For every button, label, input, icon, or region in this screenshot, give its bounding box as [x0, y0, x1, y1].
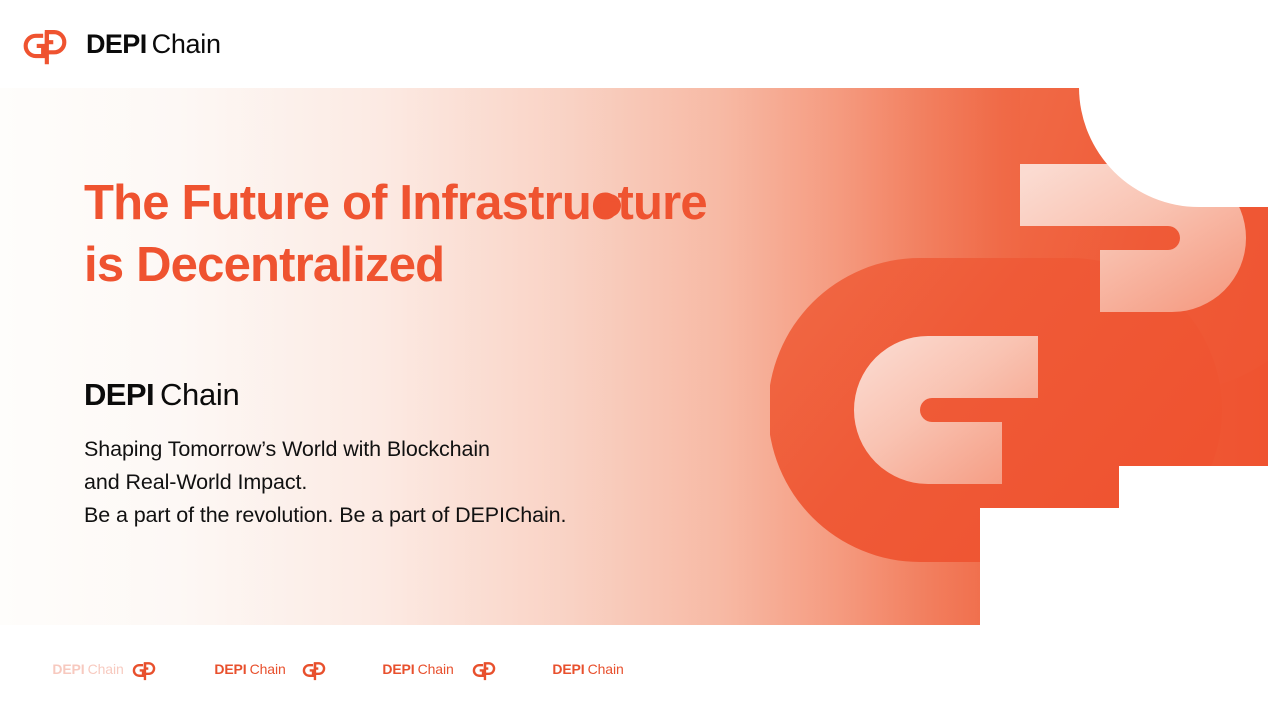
depi-chain-logo-icon[interactable] — [22, 22, 68, 66]
header-wordmark-light: Chain — [152, 29, 221, 59]
page-title: The Future of Infrastructure is Decentra… — [84, 172, 864, 296]
depi-chain-logo-icon — [302, 658, 326, 681]
footer-wordmark-light: Chain — [588, 661, 624, 677]
hero-corner-mask-top-right — [1079, 88, 1268, 207]
footer-wordmark-light: Chain — [88, 661, 124, 677]
footer-wordmark-bold: DEPI — [552, 661, 584, 677]
footer-wordmark-text: DEPIChain — [52, 662, 123, 676]
footer-wordmark-bold: DEPI — [52, 661, 84, 677]
footer-wordmark-text: DEPIChain — [382, 662, 453, 676]
page-header: DEPIChain — [0, 0, 1268, 88]
header-wordmark-bold: DEPI — [86, 29, 147, 59]
hero-corner-mask-bottom-step — [980, 508, 1120, 625]
footer-logo-ticker: DEPIChain DEPIChain DEPIChain DEPIChain — [0, 625, 1268, 713]
footer-logo-icon — [292, 625, 336, 713]
hero-brand-lockup: DEPIChain — [84, 378, 864, 412]
footer-logo-icon — [462, 625, 506, 713]
hero-brand-light: Chain — [160, 377, 240, 412]
header-wordmark: DEPIChain — [86, 31, 221, 58]
hero-brand-bold: DEPI — [84, 377, 154, 412]
footer-logo-icon — [122, 625, 166, 713]
hero-body-text: Shaping Tomorrow’s World with Blockchain… — [84, 433, 864, 532]
hero-subtitle-block: DEPIChain Shaping Tomorrow’s World with … — [84, 378, 864, 531]
slide-canvas: DEPIChain — [0, 0, 1268, 713]
footer-wordmark-light: Chain — [250, 661, 286, 677]
hero-corner-mask-bottom-right — [1119, 466, 1268, 625]
footer-wordmark-light: Chain — [418, 661, 454, 677]
hero-panel: The Future of Infrastructure is Decentra… — [0, 88, 1268, 625]
depi-chain-logo-icon — [132, 658, 156, 681]
footer-wordmark: DEPIChain — [528, 625, 648, 713]
footer-wordmark: DEPIChain — [358, 625, 478, 713]
footer-wordmark-text: DEPIChain — [214, 662, 285, 676]
footer-wordmark-text: DEPIChain — [552, 662, 623, 676]
hero-copy: The Future of Infrastructure is Decentra… — [84, 172, 864, 532]
footer-wordmark-bold: DEPI — [214, 661, 246, 677]
footer-wordmark-bold: DEPI — [382, 661, 414, 677]
depi-chain-logo-icon — [472, 658, 496, 681]
